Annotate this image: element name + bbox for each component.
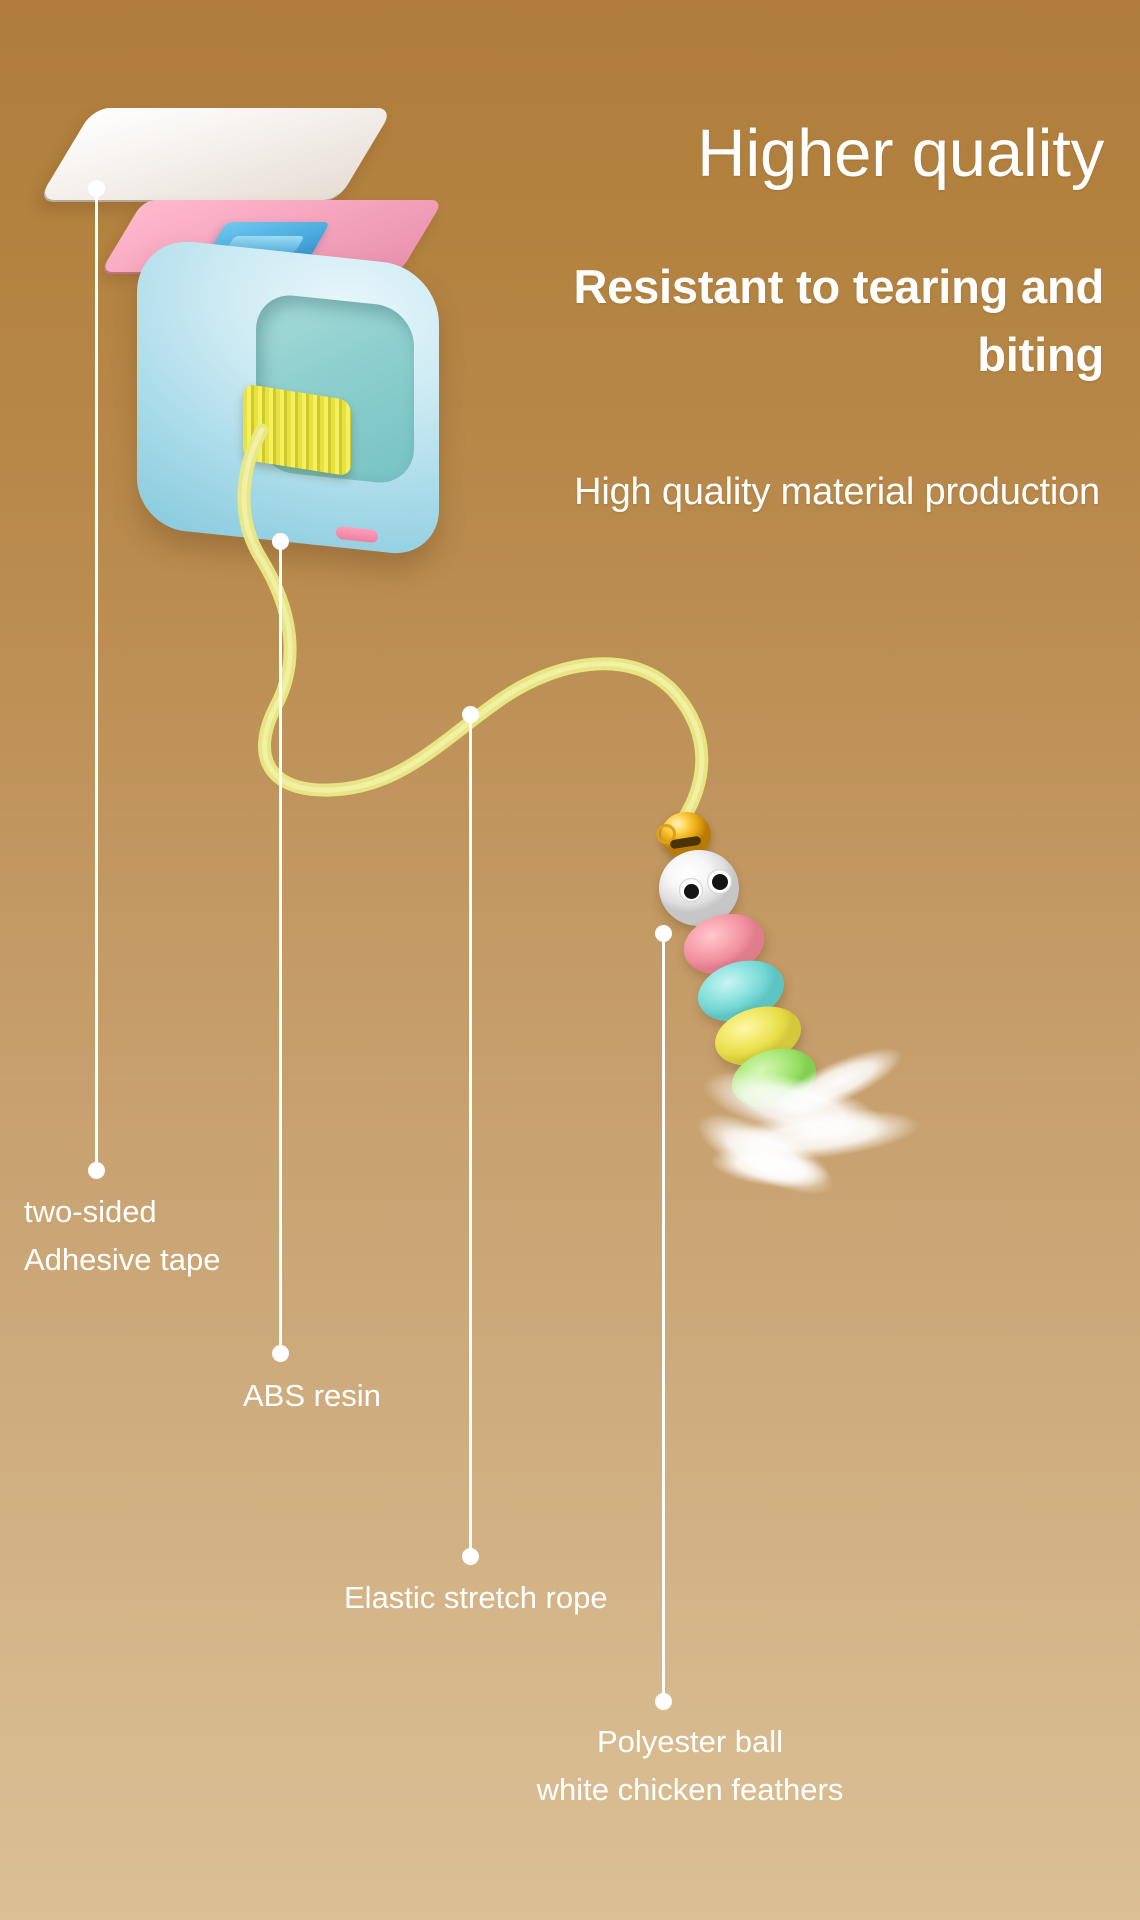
callout-label-abs-resin: ABS resin — [243, 1372, 543, 1420]
callout-label-polyester-ball: Polyester ball white chicken feathers — [490, 1718, 890, 1814]
callout-label-adhesive-tape: two-sided Adhesive tape — [24, 1188, 354, 1284]
headline-tertiary: High quality material production — [500, 465, 1100, 520]
headline-primary: Higher quality — [697, 120, 1104, 187]
googly-eye-left — [679, 878, 703, 902]
infographic-canvas: Higher quality Resistant to tearing and … — [0, 0, 1140, 1920]
callout-dot-end-polyester-ball — [655, 1693, 672, 1710]
callout-leader-polyester-ball — [662, 933, 665, 1701]
callout-leader-elastic-rope — [469, 714, 472, 1556]
googly-eye-right — [707, 869, 732, 894]
callout-dot-end-elastic-rope — [462, 1548, 479, 1565]
callout-dot-end-abs-resin — [272, 1345, 289, 1362]
callout-label-elastic-rope: Elastic stretch rope — [344, 1574, 744, 1622]
headline-secondary: Resistant to tearing and biting — [464, 253, 1104, 389]
callout-leader-abs-resin — [279, 541, 282, 1353]
callout-dot-end-adhesive-tape — [88, 1162, 105, 1179]
callout-leader-adhesive-tape — [95, 188, 98, 1170]
